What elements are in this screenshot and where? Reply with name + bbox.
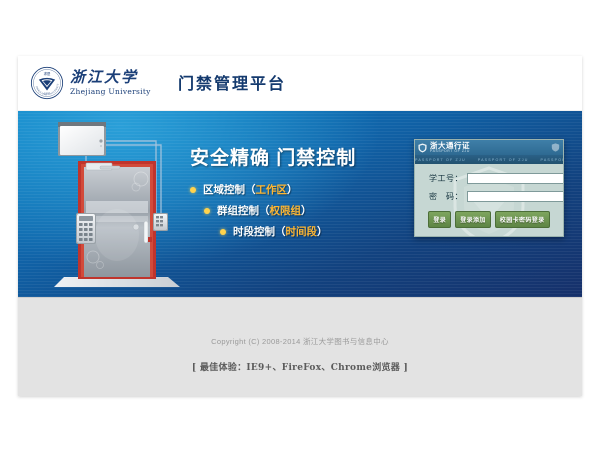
access-control-door-illustration <box>40 117 192 295</box>
ticker-text: PASSPORT OF ZJU <box>541 158 564 162</box>
login-button[interactable]: 登录 <box>428 211 451 228</box>
copyright-text: Copyright (C) 2008-2014 浙江大学图书与信息中心 <box>18 298 582 347</box>
login-form: 学工号： 密 码： 登录 登录添加 校园卡密码登录 <box>415 164 563 236</box>
bullet-dot-icon <box>204 208 210 214</box>
ticker-text: PASSPORT OF ZJU <box>478 158 541 162</box>
campus-card-login-button[interactable]: 校园卡密码登录 <box>495 211 550 228</box>
login-panel-titlebar: 浙大通行证 PASSPORT OF ZJU <box>415 140 563 155</box>
page-title: 门禁管理平台 <box>178 70 286 94</box>
login-panel-ticker: PASSPORT OF ZJU PASSPORT OF ZJU PASSPORT… <box>415 155 563 164</box>
login-add-button[interactable]: 登录添加 <box>455 211 491 228</box>
feature-label: 时段控制（ <box>233 224 286 239</box>
site-header: 求是 1897 ZHEJIANG UNIVERSITY 浙江大学 Zhejian… <box>18 56 582 111</box>
brand-names: 浙江大学 Zhejiang University <box>70 70 151 96</box>
login-panel: 浙大通行证 PASSPORT OF ZJU PASSPORT OF ZJU PA… <box>414 139 564 237</box>
login-panel-title-en: PASSPORT OF ZJU <box>430 150 470 153</box>
bullet-dot-icon <box>190 187 196 193</box>
staff-id-input[interactable] <box>467 173 564 184</box>
shield-icon <box>418 143 427 153</box>
site-footer: Copyright (C) 2008-2014 浙江大学图书与信息中心 [ 最佳… <box>18 297 582 396</box>
list-item: 区域控制（工作区） <box>190 182 400 197</box>
hero-headline: 安全精确 门禁控制 <box>190 143 400 170</box>
feature-accent: 权限组 <box>270 203 302 218</box>
bullet-dot-icon <box>220 229 226 235</box>
feature-tail: ） <box>287 182 298 197</box>
staff-id-label: 学工号： <box>423 173 463 184</box>
list-item: 群组控制（权限组） <box>190 203 400 218</box>
list-item: 时段控制（时间段） <box>190 224 400 239</box>
password-field: 密 码： <box>423 191 555 202</box>
site-container: 求是 1897 ZHEJIANG UNIVERSITY 浙江大学 Zhejian… <box>18 56 582 396</box>
login-panel-title-cn: 浙大通行证 <box>430 142 470 150</box>
feature-label: 区域控制（ <box>203 182 256 197</box>
brand-logo[interactable]: 求是 1897 ZHEJIANG UNIVERSITY 浙江大学 Zhejian… <box>30 62 151 104</box>
feature-tail: ） <box>317 224 328 239</box>
page-root: 求是 1897 ZHEJIANG UNIVERSITY 浙江大学 Zhejian… <box>0 0 600 450</box>
zju-crest-icon: 求是 1897 ZHEJIANG UNIVERSITY <box>30 66 64 100</box>
feature-accent: 时间段 <box>286 224 318 239</box>
password-label: 密 码： <box>423 191 463 202</box>
browser-recommendation-text: [ 最佳体验：IE9+、FireFox、Chrome浏览器 ] <box>18 360 582 373</box>
hero-banner: 安全精确 门禁控制 区域控制（工作区） 群组控制（权限组） 时段控制（时间段） <box>18 111 582 297</box>
hero-feature-list: 区域控制（工作区） 群组控制（权限组） 时段控制（时间段） <box>190 182 400 239</box>
university-name-cn: 浙江大学 <box>70 70 151 85</box>
university-name-en: Zhejiang University <box>70 88 151 96</box>
shield-watermark-icon <box>551 143 560 152</box>
hero-copy: 安全精确 门禁控制 区域控制（工作区） 群组控制（权限组） 时段控制（时间段） <box>190 143 400 255</box>
login-actions: 登录 登录添加 校园卡密码登录 <box>423 211 555 228</box>
svg-text:求是: 求是 <box>44 71 51 76</box>
login-panel-title-block: 浙大通行证 PASSPORT OF ZJU <box>430 142 470 154</box>
feature-label: 群组控制（ <box>217 203 270 218</box>
feature-accent: 工作区 <box>256 182 288 197</box>
password-input[interactable] <box>467 191 564 202</box>
feature-tail: ） <box>301 203 312 218</box>
staff-id-field: 学工号： <box>423 173 555 184</box>
ticker-text: PASSPORT OF ZJU <box>415 158 478 162</box>
